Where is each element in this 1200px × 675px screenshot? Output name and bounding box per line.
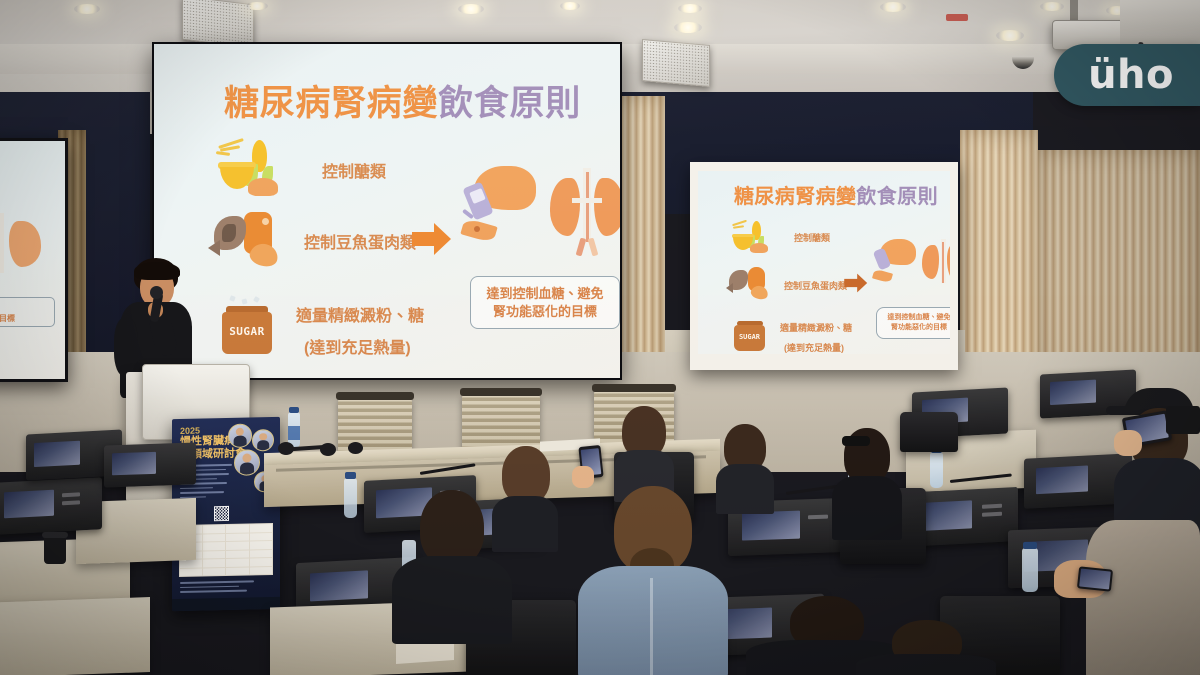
grain-bowl-icon	[730, 221, 774, 255]
hand	[1114, 430, 1142, 456]
bottle-cap	[289, 407, 299, 413]
bottle-label	[288, 426, 300, 440]
panel-chair-headrest	[592, 384, 676, 392]
delegate-console	[0, 477, 102, 535]
attendee	[614, 406, 674, 496]
glucose-meter-hand-icon	[874, 239, 918, 289]
speaker-portrait	[234, 449, 260, 476]
uho-logo-text: üho	[1088, 55, 1174, 95]
ceiling-downlight-icon	[996, 30, 1024, 41]
ceiling-downlight-icon	[74, 4, 100, 14]
coffee-cup	[44, 536, 66, 564]
ceiling-downlight-icon	[1040, 2, 1064, 11]
sugar-bag-text: SUGAR	[734, 333, 765, 341]
ceiling-speaker-icon	[642, 39, 710, 87]
grain-bowl-icon	[214, 140, 288, 198]
slide-row-1-label: 控制醣類	[322, 158, 386, 182]
panel-chair-headrest	[460, 388, 542, 396]
ceiling-downlight-icon	[246, 2, 268, 10]
smartphone-icon	[1077, 566, 1113, 591]
slide2-row-2-label: 控制豆魚蛋肉類	[784, 279, 847, 292]
left-edge-screen: 避免惡化的目標	[0, 138, 68, 382]
panel-chair-headrest	[336, 392, 414, 400]
callout-line-2: 腎功能惡化的目標	[880, 323, 950, 333]
right-secondary-screen-frame: 糖尿病腎病變飲食原則 控制醣類	[690, 162, 958, 370]
sugar-bag-text: SUGAR	[222, 325, 272, 338]
poster-year: 2025	[180, 426, 200, 436]
slide-row-2-label: 控制豆魚蛋肉類	[304, 229, 416, 253]
uho-logo: üho	[1054, 44, 1200, 106]
slide2-callout: 達到控制血糖、避免 腎功能惡化的目標	[876, 307, 950, 339]
bottle-cap	[345, 472, 356, 479]
arrow-right-icon	[412, 222, 452, 261]
ceiling-downlight-icon	[458, 4, 484, 14]
slide-callout: 達到控制血糖、避免 腎功能惡化的目標	[470, 276, 620, 329]
ceiling-downlight-icon	[678, 4, 702, 13]
attendee-denim-jacket	[578, 486, 728, 675]
kidneys-icon	[922, 239, 950, 291]
poster-sponsor-bar	[172, 597, 280, 611]
delegate-console	[104, 442, 196, 487]
attendee	[392, 490, 512, 640]
main-slide: 糖尿病腎病變飲食原則 控制醣類	[154, 44, 620, 378]
gooseneck-microphone-icon	[786, 485, 838, 495]
speaker-portrait	[252, 429, 274, 451]
ceiling-downlight-icon	[880, 2, 906, 12]
slide-title-purple: 飲食原則	[438, 84, 581, 123]
callout-line-1: 達到控制血糖、避免	[477, 285, 613, 303]
water-bottle	[344, 478, 357, 518]
slide-row-3-label: 適量精緻澱粉、糖	[296, 302, 424, 326]
ceiling-downlight-icon	[674, 22, 702, 33]
eyeglasses-icon	[842, 436, 870, 446]
attendee	[1086, 520, 1200, 675]
desk-unit	[0, 597, 150, 675]
slide2-title-orange: 糖尿病腎病變	[734, 186, 856, 208]
coffee-cup-lid	[42, 532, 68, 538]
ceiling-mount-plate	[1120, 0, 1200, 50]
slide-title-orange: 糖尿病腎病變	[224, 84, 438, 123]
fish-meat-egg-icon	[212, 208, 292, 270]
sugar-sack-icon: SUGAR	[730, 317, 776, 353]
attendee	[856, 620, 996, 675]
audience-chair-back	[900, 412, 958, 452]
slide2-row-3-label: 適量精緻澱粉、糖	[780, 321, 852, 334]
ceiling-downlight-icon	[560, 2, 580, 10]
conference-hall-photo: 避免惡化的目標 糖尿病腎病變飲食原則 控制醣類	[0, 0, 1200, 675]
callout-line-2: 腎功能惡化的目標	[477, 303, 613, 321]
sugar-sack-icon: SUGAR	[214, 296, 292, 356]
callout-line-1: 達到控制血糖、避免	[880, 313, 950, 323]
kidneys-icon	[550, 168, 620, 256]
arrow-right-icon	[844, 273, 868, 298]
ceiling-alarm-icon	[946, 14, 968, 21]
slide2-row-1-label: 控制醣類	[794, 231, 830, 244]
fish-meat-egg-icon	[728, 265, 776, 303]
secondary-slide: 糖尿病腎病變飲食原則 控制醣類	[698, 171, 950, 354]
poster-footer-lines	[180, 580, 260, 595]
bottle-cap	[1023, 542, 1037, 549]
qr-code-icon	[214, 506, 229, 521]
hand	[572, 466, 594, 488]
slide-row-3-sublabel: (達到充足熱量)	[304, 334, 411, 358]
camera-icon	[1166, 406, 1200, 434]
speaker-portrait	[228, 423, 252, 448]
slide2-title-purple: 飲食原則	[856, 186, 938, 208]
water-bottle	[1022, 548, 1038, 592]
water-bottle	[930, 452, 943, 488]
main-projection-screen-frame: 糖尿病腎病變飲食原則 控制醣類	[152, 42, 622, 380]
table-microphone-icon	[348, 442, 363, 454]
slide2-row-3-sublabel: (達到充足熱量)	[784, 341, 844, 354]
glucose-meter-hand-icon	[464, 166, 542, 252]
